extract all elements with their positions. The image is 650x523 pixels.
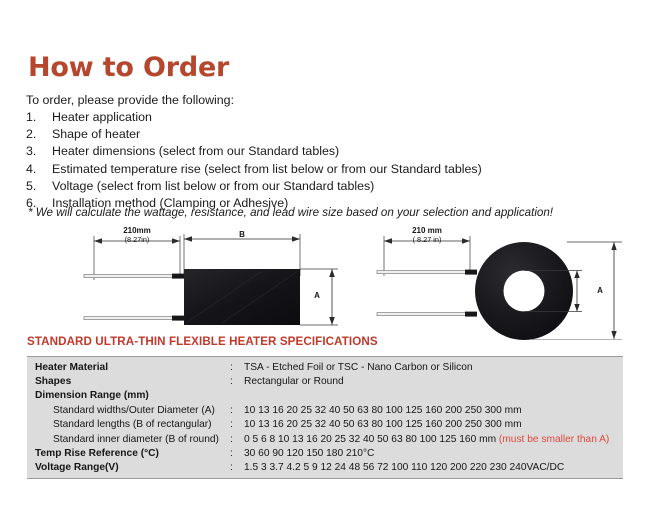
row-label: Standard inner diameter (B of round) bbox=[27, 434, 230, 445]
list-item-label: Voltage (select from list below or from … bbox=[52, 179, 374, 193]
round-lead-length-inches-label: ( 8.27 in) bbox=[394, 235, 460, 244]
rect-lead-length-label: 210mm bbox=[104, 226, 170, 235]
row-value: TSA - Etched Foil or TSC - Nano Carbon o… bbox=[244, 362, 623, 373]
row-value: 0 5 6 8 10 13 16 20 25 32 40 50 63 80 10… bbox=[244, 434, 499, 445]
list-item: 4. Estimated temperature rise (select fr… bbox=[26, 162, 626, 179]
rectangular-heater-diagram: 210mm (8.27in) B A bbox=[62, 228, 352, 340]
list-item: 5. Voltage (select from list below or fr… bbox=[26, 179, 626, 196]
order-page: How to Order To order, please provide th… bbox=[0, 0, 650, 523]
table-row: Standard inner diameter (B of round) : 0… bbox=[27, 432, 623, 446]
row-value: Rectangular or Round bbox=[244, 376, 623, 387]
rect-lead-length-inches-label: (8.27in) bbox=[104, 235, 170, 244]
row-value: 1.5 3 3.7 4.2 5 9 12 24 48 56 72 100 110… bbox=[244, 462, 623, 473]
row-value: 10 13 16 20 25 32 40 50 63 80 100 125 16… bbox=[244, 405, 623, 416]
list-item: 2. Shape of heater bbox=[26, 127, 626, 144]
round-inner-diameter-label-b: B bbox=[556, 286, 570, 295]
rect-width-label-b: B bbox=[222, 230, 262, 239]
row-label: Shapes bbox=[27, 376, 230, 387]
order-steps-list: 1. Heater application 2. Shape of heater… bbox=[26, 110, 626, 213]
row-colon: : bbox=[230, 434, 244, 445]
page-title: How to Order bbox=[28, 52, 229, 83]
row-colon: : bbox=[230, 376, 244, 387]
list-item: 3. Heater dimensions (select from our St… bbox=[26, 144, 626, 161]
list-item: 1. Heater application bbox=[26, 110, 626, 127]
row-colon: : bbox=[230, 362, 244, 373]
list-item-number: 1. bbox=[26, 110, 52, 124]
list-item-label: Heater dimensions (select from our Stand… bbox=[52, 144, 339, 158]
table-row: Shapes : Rectangular or Round bbox=[27, 374, 623, 388]
row-value-note: (must be smaller than A) bbox=[499, 434, 609, 445]
diagram-area: 210mm (8.27in) B A bbox=[0, 228, 650, 340]
row-value-group: 0 5 6 8 10 13 16 20 25 32 40 50 63 80 10… bbox=[244, 434, 623, 445]
table-row: Voltage Range(V) : 1.5 3 3.7 4.2 5 9 12 … bbox=[27, 461, 623, 475]
round-heater-diagram: 210 mm ( 8.27 in) B A bbox=[372, 228, 644, 340]
row-label: Dimension Range (mm) bbox=[27, 390, 230, 401]
row-value: 10 13 16 20 25 32 40 50 63 80 100 125 16… bbox=[244, 419, 623, 430]
row-colon: : bbox=[230, 419, 244, 430]
table-row: Dimension Range (mm) bbox=[27, 389, 623, 403]
row-label: Heater Material bbox=[27, 362, 230, 373]
list-item-label: Estimated temperature rise (select from … bbox=[52, 162, 482, 176]
row-colon: : bbox=[230, 405, 244, 416]
row-label: Voltage Range(V) bbox=[27, 462, 230, 473]
list-item-label: Shape of heater bbox=[52, 127, 140, 141]
row-colon: : bbox=[230, 448, 244, 459]
round-outer-diameter-label-a: A bbox=[593, 286, 607, 295]
table-row: Standard lengths (B of rectangular) : 10… bbox=[27, 418, 623, 432]
rect-height-label-a: A bbox=[310, 291, 324, 300]
table-row: Heater Material : TSA - Etched Foil or T… bbox=[27, 360, 623, 374]
list-item-number: 5. bbox=[26, 179, 52, 193]
row-label: Standard lengths (B of rectangular) bbox=[27, 419, 230, 430]
table-row: Standard widths/Outer Diameter (A) : 10 … bbox=[27, 403, 623, 417]
specifications-heading: STANDARD ULTRA-THIN FLEXIBLE HEATER SPEC… bbox=[27, 335, 378, 348]
row-label: Standard widths/Outer Diameter (A) bbox=[27, 405, 230, 416]
specifications-table: Heater Material : TSA - Etched Foil or T… bbox=[27, 356, 623, 479]
row-value: 30 60 90 120 150 180 210°C bbox=[244, 448, 623, 459]
intro-text: To order, please provide the following: bbox=[26, 93, 234, 107]
row-label: Temp Rise Reference (°C) bbox=[27, 448, 230, 459]
order-note: * We will calculate the wattage, resista… bbox=[28, 206, 553, 219]
list-item-number: 3. bbox=[26, 144, 52, 158]
rectangular-heater-svg bbox=[62, 228, 352, 340]
list-item-label: Heater application bbox=[52, 110, 152, 124]
list-item-number: 2. bbox=[26, 127, 52, 141]
list-item-number: 4. bbox=[26, 162, 52, 176]
round-heater-svg bbox=[372, 228, 644, 340]
round-lead-length-label: 210 mm bbox=[394, 226, 460, 235]
table-row: Temp Rise Reference (°C) : 30 60 90 120 … bbox=[27, 446, 623, 460]
row-colon: : bbox=[230, 462, 244, 473]
